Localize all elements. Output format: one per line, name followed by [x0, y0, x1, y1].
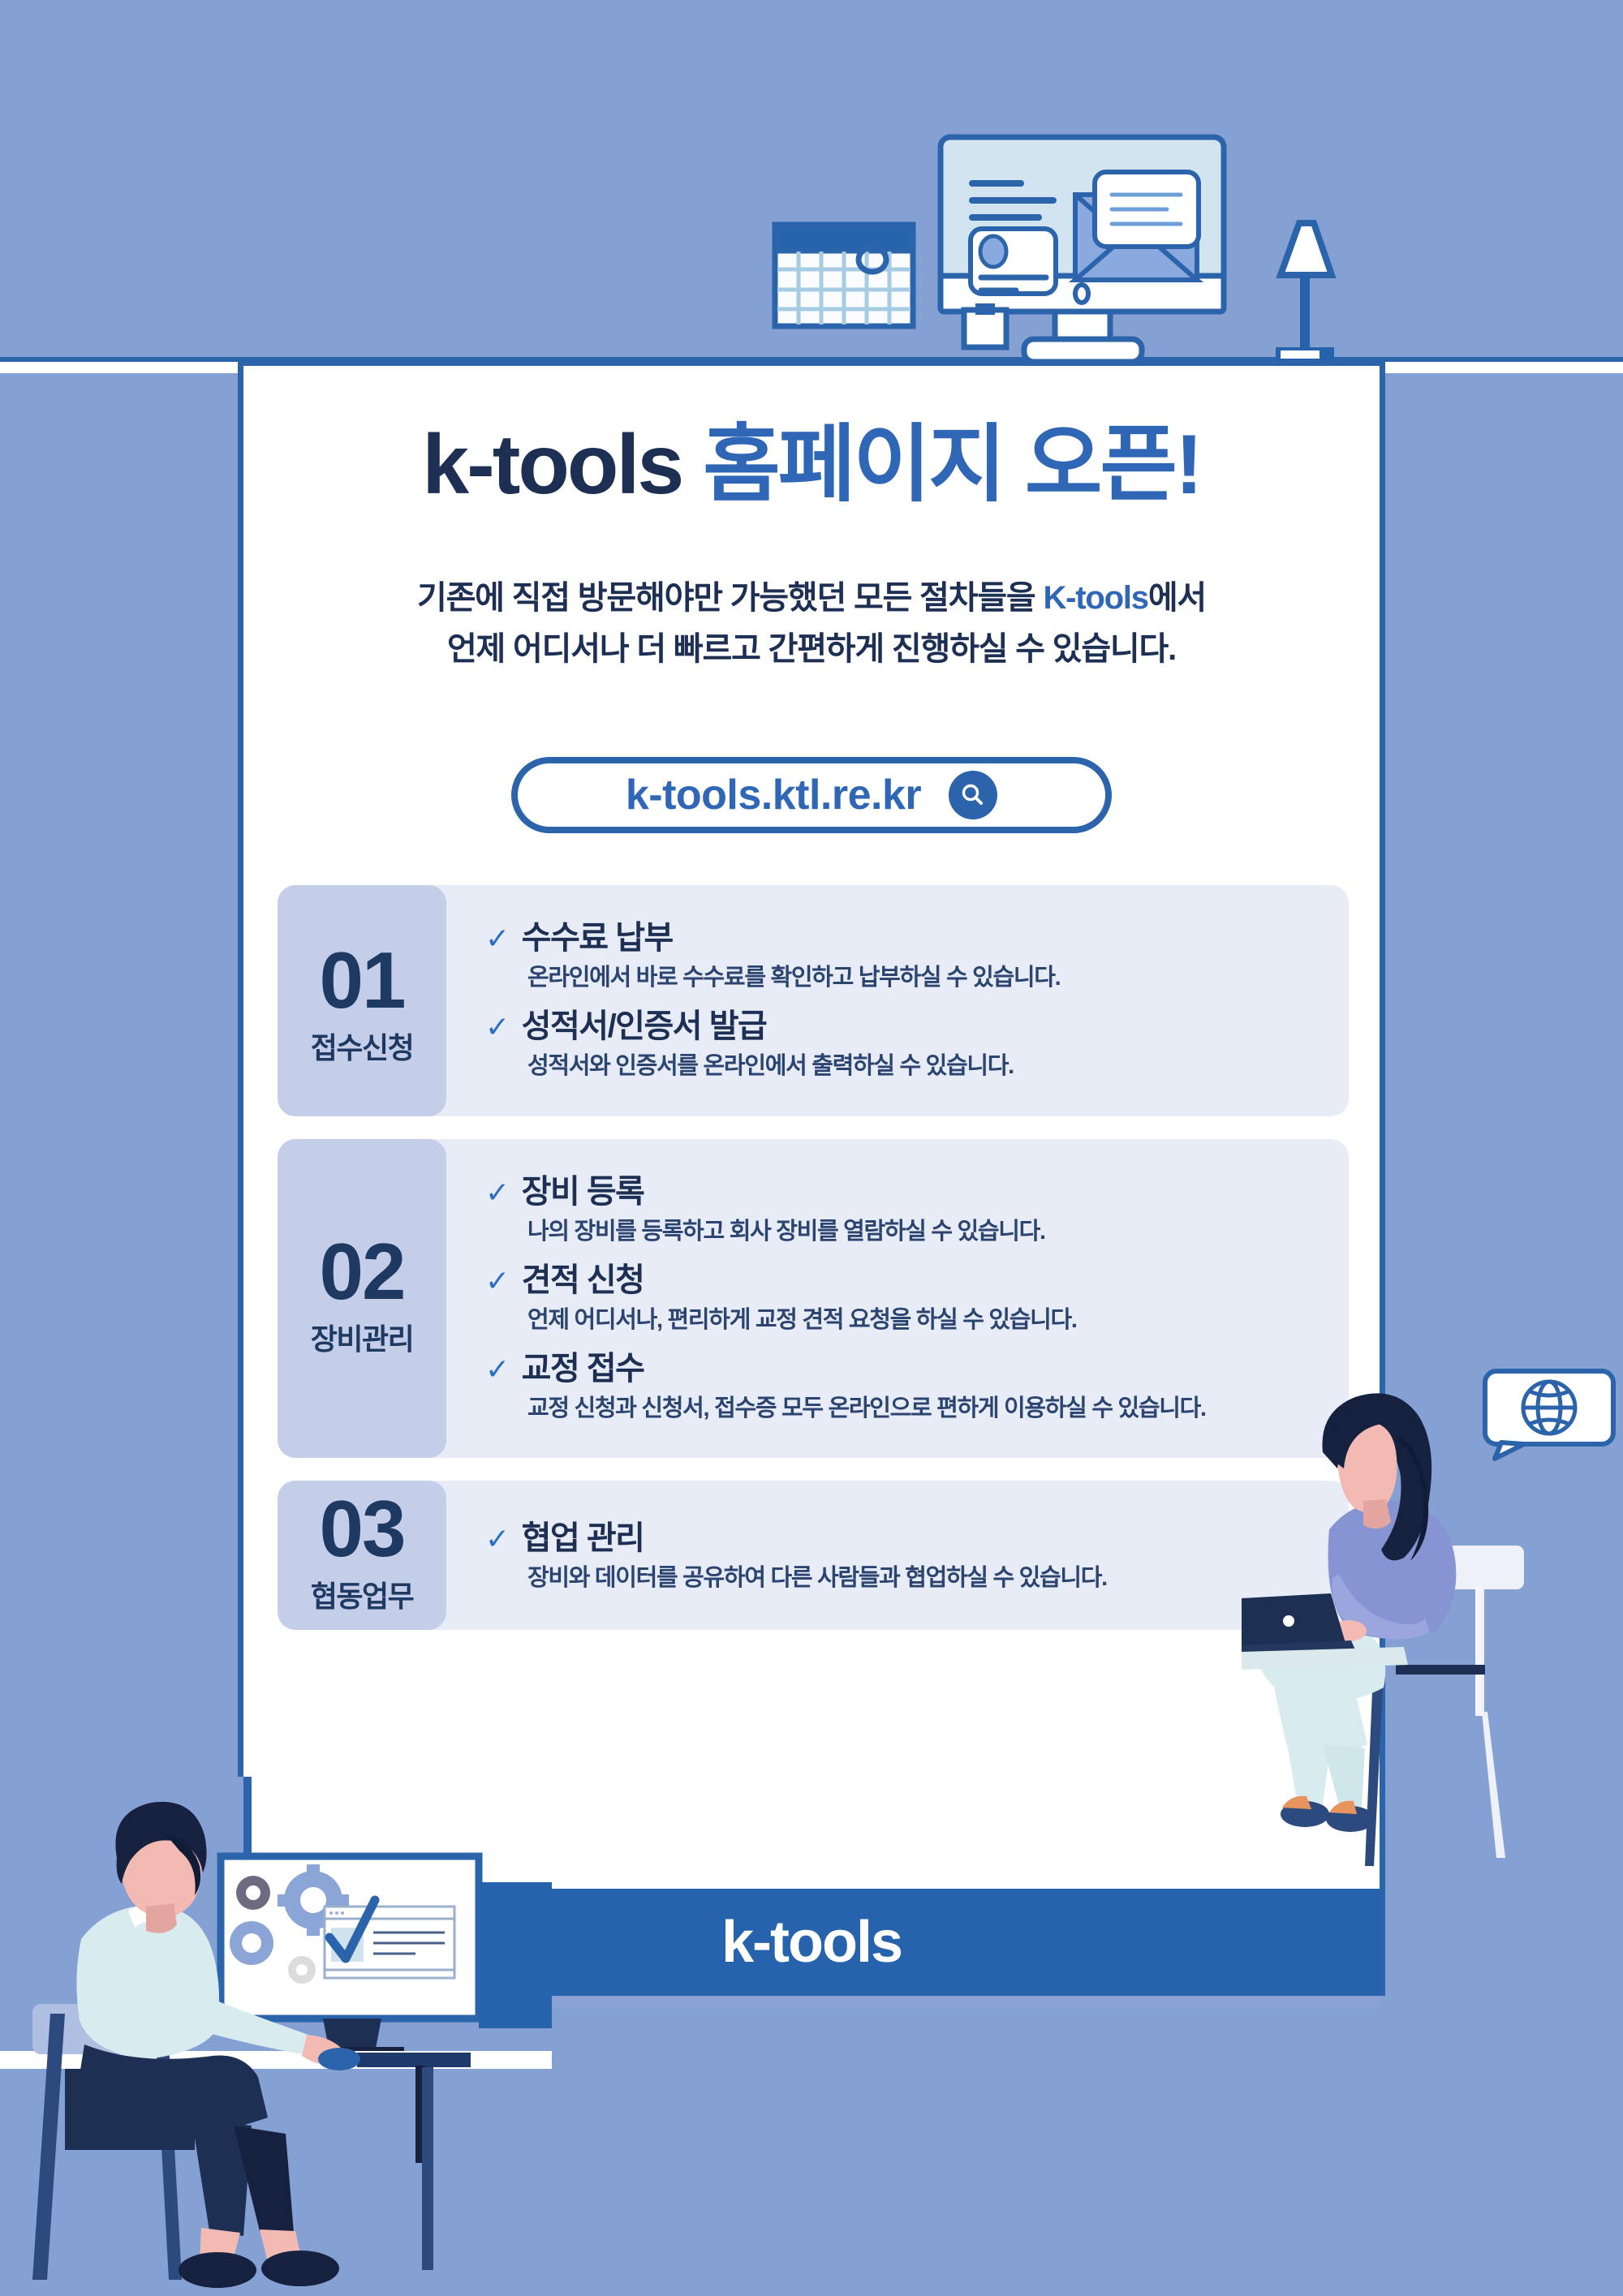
feature-title: 수수료 납부 — [522, 918, 673, 957]
section-01-body: ✓ 수수료 납부 온라인에서 바로 수수료를 확인하고 납부하실 수 있습니다.… — [446, 885, 1349, 1116]
section-02-number-panel: 02 장비관리 — [278, 1139, 446, 1459]
feature-title-row: ✓ 교정 접수 — [485, 1349, 1316, 1388]
section-03-number: 03 — [319, 1489, 404, 1570]
feature-title-row: ✓ 협업 관리 — [485, 1519, 1316, 1558]
section-01-caption: 접수신청 — [311, 1025, 413, 1067]
feature-item: ✓ 성적서/인증서 발급 성적서와 인증서를 온라인에서 출력하실 수 있습니다… — [485, 1007, 1316, 1081]
section-03-number-panel: 03 협동업무 — [278, 1481, 446, 1630]
feature-desc: 장비와 데이터를 공유하여 다른 사람들과 협업하실 수 있습니다. — [527, 1563, 1316, 1593]
feature-title: 협업 관리 — [522, 1519, 644, 1558]
feature-title: 장비 등록 — [522, 1172, 644, 1211]
calendar-icon — [775, 225, 913, 326]
feature-desc: 나의 장비를 등록하고 회사 장비를 열람하실 수 있습니다. — [527, 1217, 1316, 1246]
section-03-caption: 협동업무 — [311, 1573, 413, 1615]
feature-title-row: ✓ 견적 신청 — [485, 1261, 1316, 1300]
feature-title-row: ✓ 수수료 납부 — [485, 918, 1316, 957]
feature-desc: 교정 신청과 신청서, 접수증 모두 온라인으로 편하게 이용하실 수 있습니다… — [527, 1394, 1316, 1423]
check-icon: ✓ — [485, 1352, 509, 1387]
check-icon: ✓ — [485, 921, 509, 956]
section-02-number: 02 — [319, 1232, 404, 1313]
subtitle-brand-highlight: K-tools — [1043, 580, 1147, 616]
check-icon: ✓ — [485, 1175, 509, 1210]
search-icon[interactable] — [949, 771, 997, 819]
section-03: 03 협동업무 ✓ 협업 관리 장비와 데이터를 공유하여 다른 사람들과 협업… — [278, 1481, 1349, 1630]
feature-item: ✓ 수수료 납부 온라인에서 바로 수수료를 확인하고 납부하실 수 있습니다. — [485, 918, 1316, 992]
feature-sections: 01 접수신청 ✓ 수수료 납부 온라인에서 바로 수수료를 확인하고 납부하실… — [278, 885, 1349, 1653]
feature-item: ✓ 협업 관리 장비와 데이터를 공유하여 다른 사람들과 협업하실 수 있습니… — [485, 1519, 1316, 1593]
feature-item: ✓ 교정 접수 교정 신청과 신청서, 접수증 모두 온라인으로 편하게 이용하… — [485, 1349, 1316, 1423]
checklist-document-icon — [325, 1900, 454, 1978]
feature-title: 교정 접수 — [522, 1349, 644, 1388]
feature-title: 견적 신청 — [522, 1261, 644, 1300]
feature-desc: 언제 어디서나, 편리하게 교정 견적 요청을 하실 수 있습니다. — [527, 1305, 1316, 1335]
globe-speech-bubble-icon — [1485, 1371, 1613, 1459]
section-02-body: ✓ 장비 등록 나의 장비를 등록하고 회사 장비를 열람하실 수 있습니다. … — [446, 1139, 1349, 1459]
feature-desc: 온라인에서 바로 수수료를 확인하고 납부하실 수 있습니다. — [527, 963, 1316, 992]
subtitle-line1-before: 기존에 직접 방문해야만 가능했던 모든 절차들을 — [417, 580, 1043, 616]
feature-title: 성적서/인증서 발급 — [522, 1007, 767, 1046]
subtitle-line1-after: 에서 — [1148, 580, 1206, 616]
url-text: k-tools.ktl.re.kr — [626, 771, 921, 819]
poster: k-tools 홈페이지 오픈! 기존에 직접 방문해야만 가능했던 모든 절차… — [0, 0, 1623, 2296]
feature-item: ✓ 견적 신청 언제 어디서나, 편리하게 교정 견적 요청을 하실 수 있습니… — [485, 1261, 1316, 1335]
feature-item: ✓ 장비 등록 나의 장비를 등록하고 회사 장비를 열람하실 수 있습니다. — [485, 1172, 1316, 1246]
check-icon: ✓ — [485, 1521, 509, 1556]
man-at-desk-illustration — [0, 1777, 552, 2296]
check-icon: ✓ — [485, 1009, 509, 1044]
woman-with-laptop-illustration — [1242, 1363, 1623, 1882]
feature-title-row: ✓ 장비 등록 — [485, 1172, 1316, 1211]
desktop-monitor-icon — [941, 137, 1224, 362]
section-01-number-panel: 01 접수신청 — [278, 885, 446, 1116]
section-02-caption: 장비관리 — [311, 1316, 413, 1358]
section-02: 02 장비관리 ✓ 장비 등록 나의 장비를 등록하고 회사 장비를 열람하실 … — [278, 1139, 1349, 1459]
section-03-body: ✓ 협업 관리 장비와 데이터를 공유하여 다른 사람들과 협업하실 수 있습니… — [446, 1481, 1349, 1630]
footer-logo: k-tools — [721, 1909, 902, 1976]
feature-desc: 성적서와 인증서를 온라인에서 출력하실 수 있습니다. — [527, 1051, 1316, 1081]
check-icon: ✓ — [485, 1263, 509, 1298]
top-illustration — [0, 0, 1623, 373]
envelope-icon — [1075, 172, 1199, 280]
page-title: k-tools 홈페이지 오픈! — [243, 423, 1380, 507]
feature-title-row: ✓ 성적서/인증서 발급 — [485, 1007, 1316, 1046]
desk-lamp-icon — [1276, 223, 1334, 362]
headline-brand: k-tools — [422, 418, 682, 512]
subtitle: 기존에 직접 방문해야만 가능했던 모든 절차들을 K-tools에서 언제 어… — [292, 573, 1331, 675]
section-01-number: 01 — [319, 940, 404, 1021]
section-01: 01 접수신청 ✓ 수수료 납부 온라인에서 바로 수수료를 확인하고 납부하실… — [278, 885, 1349, 1116]
headline-korean: 홈페이지 오픈! — [682, 418, 1201, 512]
main-card: k-tools 홈페이지 오픈! 기존에 직접 방문해야만 가능했던 모든 절차… — [238, 360, 1385, 1996]
url-bar[interactable]: k-tools.ktl.re.kr — [511, 757, 1112, 833]
subtitle-line2: 언제 어디서나 더 빠르고 간편하게 진행하실 수 있습니다. — [447, 631, 1176, 667]
